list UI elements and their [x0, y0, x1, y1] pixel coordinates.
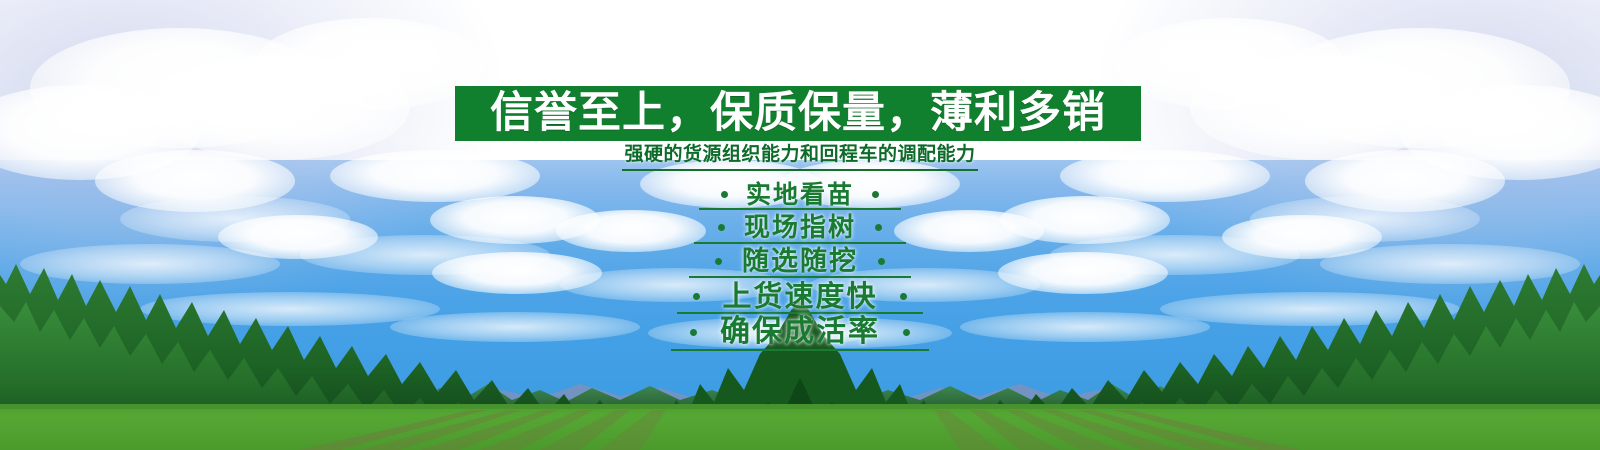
bullet-dot-icon	[900, 293, 907, 300]
bullet-dot-icon	[721, 191, 728, 198]
bullet-dot-icon	[718, 224, 725, 231]
bullet-dot-icon	[875, 224, 882, 231]
feature-label: 上货速度快	[722, 282, 877, 311]
banner-text-overlay: 信誉至上，保质保量，薄利多销 强硬的货源组织能力和回程车的调配能力 实地看苗 现…	[0, 0, 1600, 450]
headline-banner: 信誉至上，保质保量，薄利多销	[455, 86, 1141, 141]
feature-item: 上货速度快	[0, 278, 1600, 314]
feature-label: 实地看苗	[746, 182, 854, 207]
headline-text: 信誉至上，保质保量，薄利多销	[490, 92, 1106, 135]
bullet-dot-icon	[878, 258, 885, 265]
feature-item: 实地看苗	[0, 178, 1600, 211]
promo-banner: 信誉至上，保质保量，薄利多销 强硬的货源组织能力和回程车的调配能力 实地看苗 现…	[0, 0, 1600, 450]
bullet-dot-icon	[693, 293, 700, 300]
bullet-dot-icon	[903, 329, 910, 336]
feature-label: 随选随挖	[742, 248, 858, 275]
feature-label: 确保成活率	[720, 317, 880, 347]
feature-item: 现场指树	[0, 211, 1600, 244]
subheadline-text: 强硬的货源组织能力和回程车的调配能力	[622, 144, 977, 171]
bullet-dot-icon	[690, 329, 697, 336]
feature-list: 实地看苗 现场指树 随选随挖 上货速度快	[0, 178, 1600, 350]
bullet-dot-icon	[872, 191, 879, 198]
feature-label: 现场指树	[744, 215, 856, 241]
bullet-dot-icon	[715, 258, 722, 265]
feature-item: 随选随挖	[0, 244, 1600, 278]
feature-underline	[671, 349, 929, 351]
feature-underline	[699, 208, 901, 210]
feature-item: 确保成活率	[0, 314, 1600, 350]
subheadline: 强硬的货源组织能力和回程车的调配能力	[0, 144, 1600, 171]
